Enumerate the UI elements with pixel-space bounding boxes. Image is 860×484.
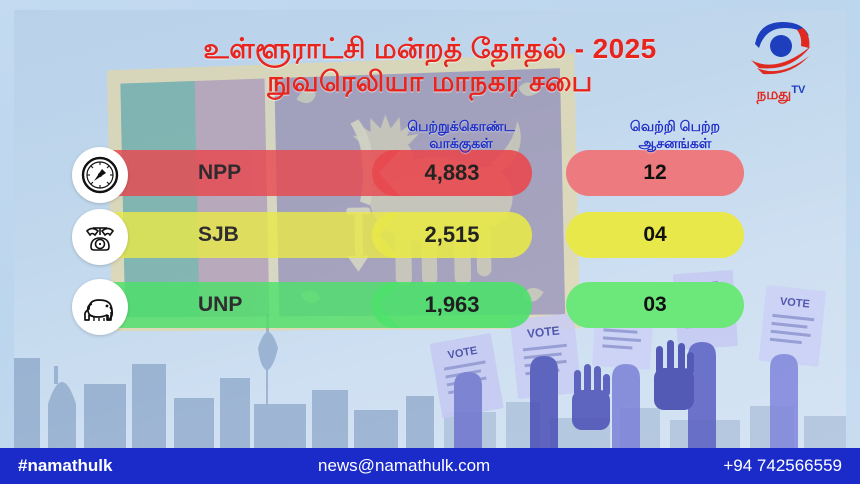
party-name: NPP (198, 161, 241, 185)
seats-value: 12 (643, 161, 666, 185)
party-seats-npp: 12 (566, 150, 744, 196)
seats-value: 03 (643, 293, 666, 317)
logo-suffix: TV (791, 84, 805, 96)
elephant-icon (80, 287, 120, 327)
column-header-seats-line1: வெற்றி பெற்ற (580, 118, 770, 135)
votes-value: 2,515 (424, 222, 479, 248)
party-votes-unp: 1,963 (372, 282, 532, 328)
footer-bar: #namathulk news@namathulk.com +94 742566… (0, 448, 860, 484)
party-name: UNP (198, 293, 242, 317)
party-seats-unp: 03 (566, 282, 744, 328)
votes-value: 1,963 (424, 292, 479, 318)
column-header-votes-line2: வாக்குகள் (386, 135, 536, 152)
footer-hashtag: #namathulk (18, 456, 112, 476)
table-row: SJB 2,515 04 (0, 212, 860, 262)
footer-phone[interactable]: +94 742566559 (723, 456, 842, 476)
column-header-seats-line2: ஆசனங்கள் (580, 135, 770, 152)
table-row: NPP 4,883 12 (0, 150, 860, 200)
party-votes-sjb: 2,515 (372, 212, 532, 258)
column-header-votes-line1: பெற்றுக்கொண்ட (386, 118, 536, 135)
poster-root: VOTE VOTE (0, 0, 860, 484)
page-title: உள்ளூராட்சி மன்றத் தேர்தல் - 2025 நுவரெல… (14, 32, 846, 98)
compass-icon (80, 155, 120, 195)
logo-name: நமது (757, 86, 792, 103)
column-header-votes: பெற்றுக்கொண்ட வாக்குகள் (386, 118, 536, 152)
title-line-1: உள்ளூராட்சி மன்றத் தேர்தல் - 2025 (14, 32, 846, 65)
namathu-tv-eye-swoosh-icon (743, 18, 819, 82)
party-name: SJB (198, 223, 239, 247)
party-symbol-sjb (72, 209, 128, 265)
votes-value: 4,883 (424, 160, 479, 186)
seats-value: 04 (643, 223, 666, 247)
column-header-seats: வெற்றி பெற்ற ஆசனங்கள் (580, 118, 770, 152)
namathu-tv-logo: நமதுTV (732, 18, 830, 114)
logo-text: நமதுTV (732, 83, 830, 102)
footer-email[interactable]: news@namathulk.com (318, 456, 490, 476)
party-name-band-sjb: SJB (100, 212, 400, 258)
party-symbol-npp (72, 147, 128, 203)
party-votes-npp: 4,883 (372, 150, 532, 196)
party-seats-sjb: 04 (566, 212, 744, 258)
party-name-band-unp: UNP (100, 282, 400, 328)
table-row: UNP 1,963 03 (0, 282, 860, 332)
title-line-2: நுவரெலியா மாநகர சபை (14, 65, 846, 98)
party-name-band-npp: NPP (100, 150, 400, 196)
telephone-icon (80, 217, 120, 257)
party-symbol-unp (72, 279, 128, 335)
